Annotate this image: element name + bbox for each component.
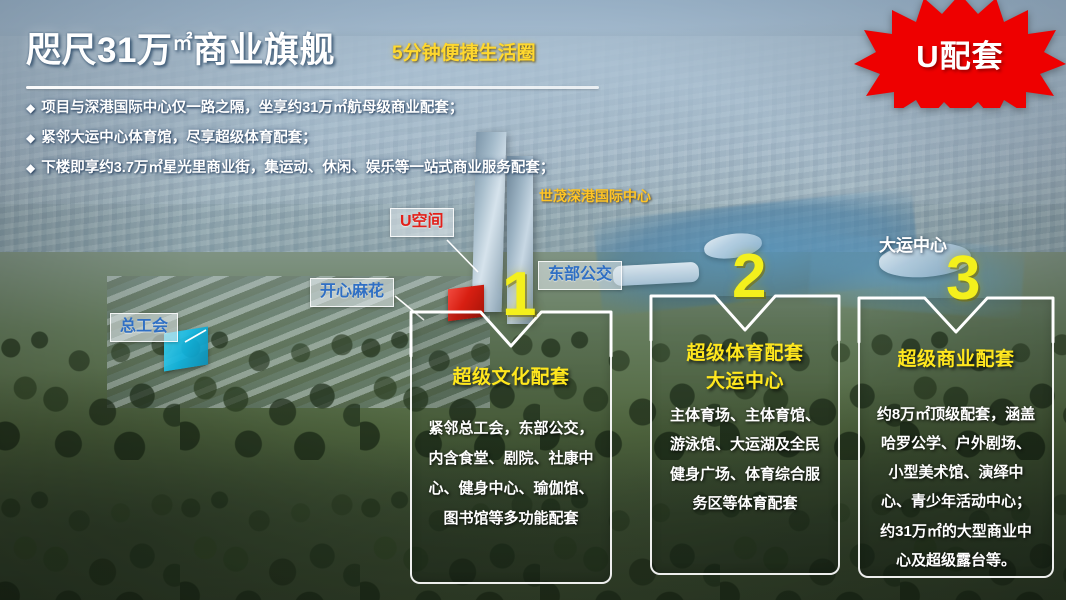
- chevron-down-icon: [410, 310, 612, 356]
- page-title-unit: ㎡: [172, 32, 193, 54]
- panel-2-title: 超级体育配套: [686, 340, 803, 368]
- panel-2-chevron-top: [650, 294, 840, 340]
- bullet-text: 项目与深港国际中心仅一路之隔，坐享约31万㎡航母级商业配套；: [41, 99, 463, 118]
- callout-uspace-label: U空间: [400, 213, 444, 230]
- bullet-item: ◆ 下楼即享约3.7万㎡星光里商业街，集运动、休闲、娱乐等一站式商业服务配套；: [26, 159, 666, 178]
- page-title: 咫尺31万㎡商业旗舰: [26, 22, 335, 73]
- panel-2-content: 超级体育配套 大运中心 主体育场、主体育馆、游泳馆、大运湖及全民健身广场、体育综…: [652, 340, 838, 563]
- feature-panel-1[interactable]: 1 超级文化配套 紧邻总工会，东部公交，内含食堂、剧院、社康中心、健身中心、瑜伽…: [410, 312, 612, 584]
- feature-panel-3[interactable]: 3 超级商业配套 约8万㎡顶级配套，涵盖哈罗公学、户外剧场、小型美术馆、演绎中心…: [858, 298, 1054, 578]
- starburst-shape-icon: [854, 0, 1066, 108]
- callout-zonggonghui[interactable]: 总工会: [110, 313, 178, 342]
- bullet-item: ◆ 紧邻大运中心体育馆，尽享超级体育配套；: [26, 129, 666, 148]
- panel-3-title: 超级商业配套: [897, 346, 1014, 374]
- panel-3-chevron-top: [858, 296, 1054, 342]
- chevron-down-icon: [650, 294, 840, 340]
- panel-1-body: 紧邻总工会，东部公交，内含食堂、剧院、社康中心、健身中心、瑜伽馆、图书馆等多功能…: [428, 414, 594, 534]
- label-shimao-shengang-international-center: 世茂深港国际中心: [539, 186, 651, 206]
- panel-2-body: 主体育场、主体育馆、游泳馆、大运湖及全民健身广场、体育综合服务区等体育配套: [668, 401, 822, 518]
- panel-1-content: 超级文化配套 紧邻总工会，东部公交，内含食堂、剧院、社康中心、健身中心、瑜伽馆、…: [412, 364, 610, 572]
- callout-dongbugongjiao[interactable]: 东部公交: [538, 261, 622, 290]
- bullet-text: 下楼即享约3.7万㎡星光里商业街，集运动、休闲、娱乐等一站式商业服务配套；: [41, 159, 554, 178]
- panel-3-content: 超级商业配套 约8万㎡顶级配套，涵盖哈罗公学、户外剧场、小型美术馆、演绎中心、青…: [860, 346, 1052, 566]
- feature-panel-2[interactable]: 2 超级体育配套 大运中心 主体育场、主体育馆、游泳馆、大运湖及全民健身广场、体…: [650, 296, 840, 575]
- header-divider: [26, 86, 599, 89]
- callout-kaixinmahua[interactable]: 开心麻花: [310, 278, 394, 307]
- panel-1-chevron-top: [410, 310, 612, 356]
- starburst-badge: U配套: [854, 0, 1066, 108]
- panel-1-title: 超级文化配套: [452, 364, 569, 392]
- callout-zonggonghui-label: 总工会: [120, 318, 168, 335]
- diamond-bullet-icon: ◆: [26, 159, 35, 178]
- page-subtitle: 5分钟便捷生活圈: [392, 38, 536, 65]
- panel-2-subtitle: 大运中心: [706, 368, 784, 396]
- callout-dongbugongjiao-label: 东部公交: [548, 266, 612, 283]
- poster-root: 咫尺31万㎡商业旗舰 5分钟便捷生活圈 ◆ 项目与深港国际中心仅一路之隔，坐享约…: [0, 0, 1066, 600]
- chevron-down-icon: [858, 296, 1054, 342]
- bullet-list: ◆ 项目与深港国际中心仅一路之隔，坐享约31万㎡航母级商业配套； ◆ 紧邻大运中…: [26, 99, 666, 189]
- callout-uspace[interactable]: U空间: [390, 208, 454, 237]
- page-title-prefix: 咫尺31万: [26, 31, 172, 70]
- callout-kaixinmahua-label: 开心麻花: [320, 283, 384, 300]
- bullet-text: 紧邻大运中心体育馆，尽享超级体育配套；: [41, 129, 317, 148]
- diamond-bullet-icon: ◆: [26, 129, 35, 148]
- bullet-item: ◆ 项目与深港国际中心仅一路之隔，坐享约31万㎡航母级商业配套；: [26, 99, 666, 118]
- label-dayun-center: 大运中心: [879, 231, 947, 256]
- diamond-bullet-icon: ◆: [26, 99, 35, 118]
- starburst-polygon: [854, 0, 1066, 108]
- page-title-suffix: 商业旗舰: [193, 31, 335, 70]
- panel-3-body: 约8万㎡顶级配套，涵盖哈罗公学、户外剧场、小型美术馆、演绎中心、青少年活动中心；…: [876, 400, 1036, 576]
